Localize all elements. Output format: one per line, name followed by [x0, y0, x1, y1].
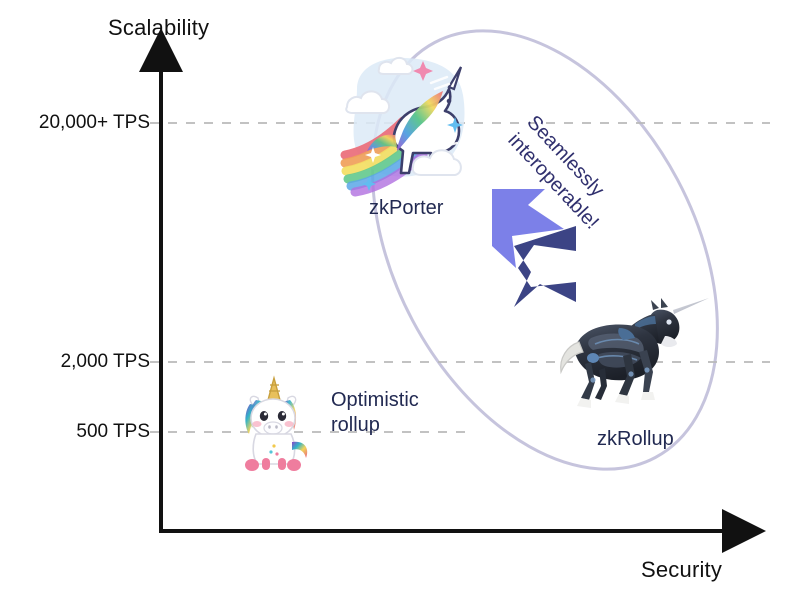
diagram-canvas: Scalability Security 20,000+ TPS 2,000 T… [0, 0, 795, 600]
node-label-optimistic-rollup: Optimistic rollup [331, 388, 419, 438]
y-tick-label-2000: 2,000 TPS [61, 351, 150, 373]
sitting-baby-unicorn-icon [245, 378, 307, 471]
x-axis-title: Security [641, 557, 722, 583]
flying-rainbow-unicorn-icon [345, 58, 465, 192]
y-tick-label-20000: 20,000+ TPS [39, 112, 150, 134]
node-label-zkporter: zkPorter [369, 196, 443, 221]
arrow-down-right-icon [514, 226, 576, 307]
robot-unicorn-icon [561, 298, 709, 408]
node-label-zkrollup: zkRollup [597, 427, 674, 452]
y-tick-label-500: 500 TPS [76, 421, 150, 443]
diagram-vector-layer [0, 0, 795, 600]
y-axis-title: Scalability [108, 15, 209, 41]
